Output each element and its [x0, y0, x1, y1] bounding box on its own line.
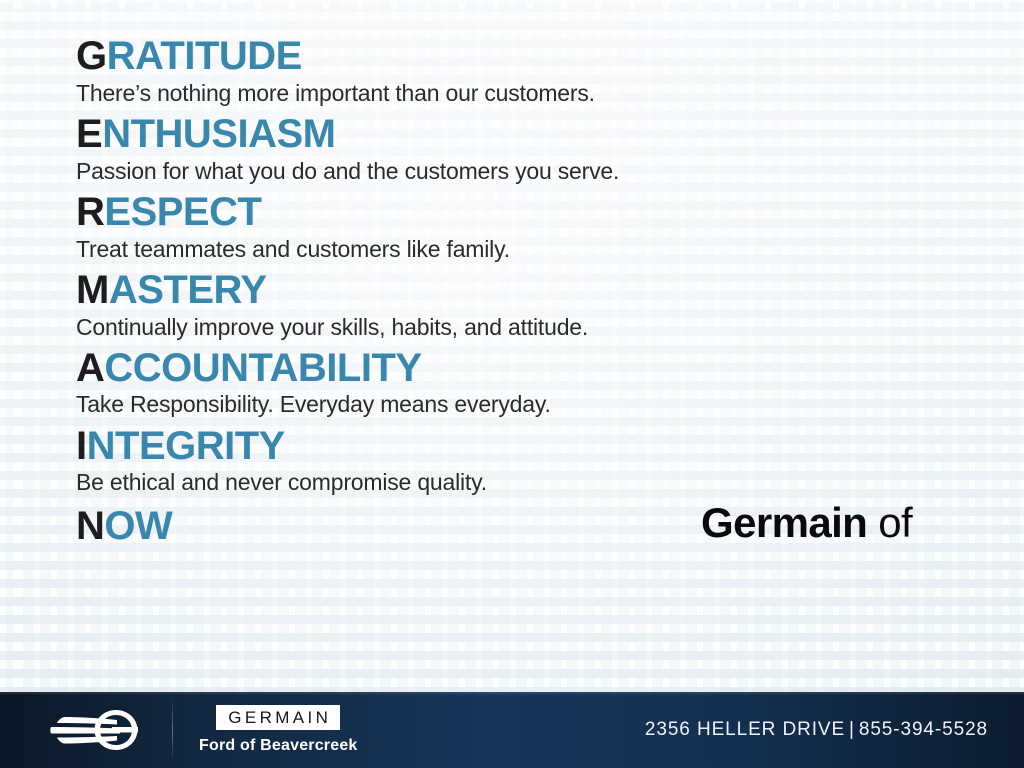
- value-remainder: RATITUDE: [107, 34, 302, 78]
- final-row: NOW Germain of: [76, 504, 1024, 574]
- value-block-enthusiasm: ENTHUSIASM Passion for what you do and t…: [76, 112, 1024, 185]
- value-initial: A: [76, 346, 104, 390]
- value-description-mastery: Continually improve your skills, habits,…: [76, 314, 1024, 341]
- value-initial: N: [76, 504, 104, 548]
- value-description-enthusiasm: Passion for what you do and the customer…: [76, 158, 1024, 185]
- brand-strong-text: Germain: [701, 499, 867, 546]
- value-block-respect: RESPECT Treat teammates and customers li…: [76, 190, 1024, 263]
- value-block-mastery: MASTERY Continually improve your skills,…: [76, 268, 1024, 341]
- value-remainder: ASTERY: [109, 268, 267, 312]
- value-remainder: OW: [104, 504, 172, 548]
- value-heading-accountability: ACCOUNTABILITY: [76, 346, 1024, 391]
- value-description-integrity: Be ethical and never compromise quality.: [76, 469, 1024, 496]
- germain-logo-box: GERMAIN: [216, 705, 340, 730]
- footer-address: 2356 HELLER DRIVE: [645, 719, 845, 740]
- value-initial: G: [76, 34, 107, 78]
- value-block-gratitude: GRATITUDE There’s nothing more important…: [76, 34, 1024, 107]
- brand-light-text: of: [878, 499, 912, 546]
- value-initial: I: [76, 424, 87, 468]
- value-initial: R: [76, 190, 104, 234]
- value-heading-integrity: INTEGRITY: [76, 424, 1024, 469]
- germain-winged-g-emblem-icon: [42, 707, 146, 753]
- value-description-respect: Treat teammates and customers like famil…: [76, 236, 1024, 263]
- slide-canvas: GRATITUDE There’s nothing more important…: [0, 0, 1024, 768]
- value-heading-now: NOW: [76, 504, 172, 549]
- value-heading-respect: RESPECT: [76, 190, 1024, 235]
- footer-branding-group: GERMAIN Ford of Beavercreek: [0, 692, 358, 768]
- value-block-accountability: ACCOUNTABILITY Take Responsibility. Ever…: [76, 346, 1024, 419]
- value-heading-mastery: MASTERY: [76, 268, 1024, 313]
- value-description-gratitude: There’s nothing more important than our …: [76, 80, 1024, 107]
- core-values-list: GRATITUDE There’s nothing more important…: [0, 0, 1024, 574]
- value-initial: M: [76, 268, 109, 312]
- value-heading-gratitude: GRATITUDE: [76, 34, 1024, 79]
- value-remainder: NTHUSIASM: [102, 112, 335, 156]
- value-block-integrity: INTEGRITY Be ethical and never compromis…: [76, 424, 1024, 497]
- value-initial: E: [76, 112, 102, 156]
- dealer-name-label: Ford of Beavercreek: [199, 737, 358, 755]
- footer-separator: |: [845, 719, 859, 740]
- footer-contact-info: 2356 HELLER DRIVE|855-394-5528: [645, 719, 1024, 741]
- value-remainder: ESPECT: [104, 190, 261, 234]
- footer-bar: GERMAIN Ford of Beavercreek 2356 HELLER …: [0, 692, 1024, 768]
- footer-phone[interactable]: 855-394-5528: [859, 719, 988, 740]
- value-remainder: CCOUNTABILITY: [104, 346, 421, 390]
- value-heading-enthusiasm: ENTHUSIASM: [76, 112, 1024, 157]
- footer-dealer-brand: GERMAIN Ford of Beavercreek: [199, 705, 358, 755]
- value-description-accountability: Take Responsibility. Everyday means ever…: [76, 391, 1024, 418]
- footer-divider: [172, 701, 173, 759]
- value-remainder: NTEGRITY: [87, 424, 285, 468]
- brand-wordmark-overlay: Germain of: [701, 500, 912, 546]
